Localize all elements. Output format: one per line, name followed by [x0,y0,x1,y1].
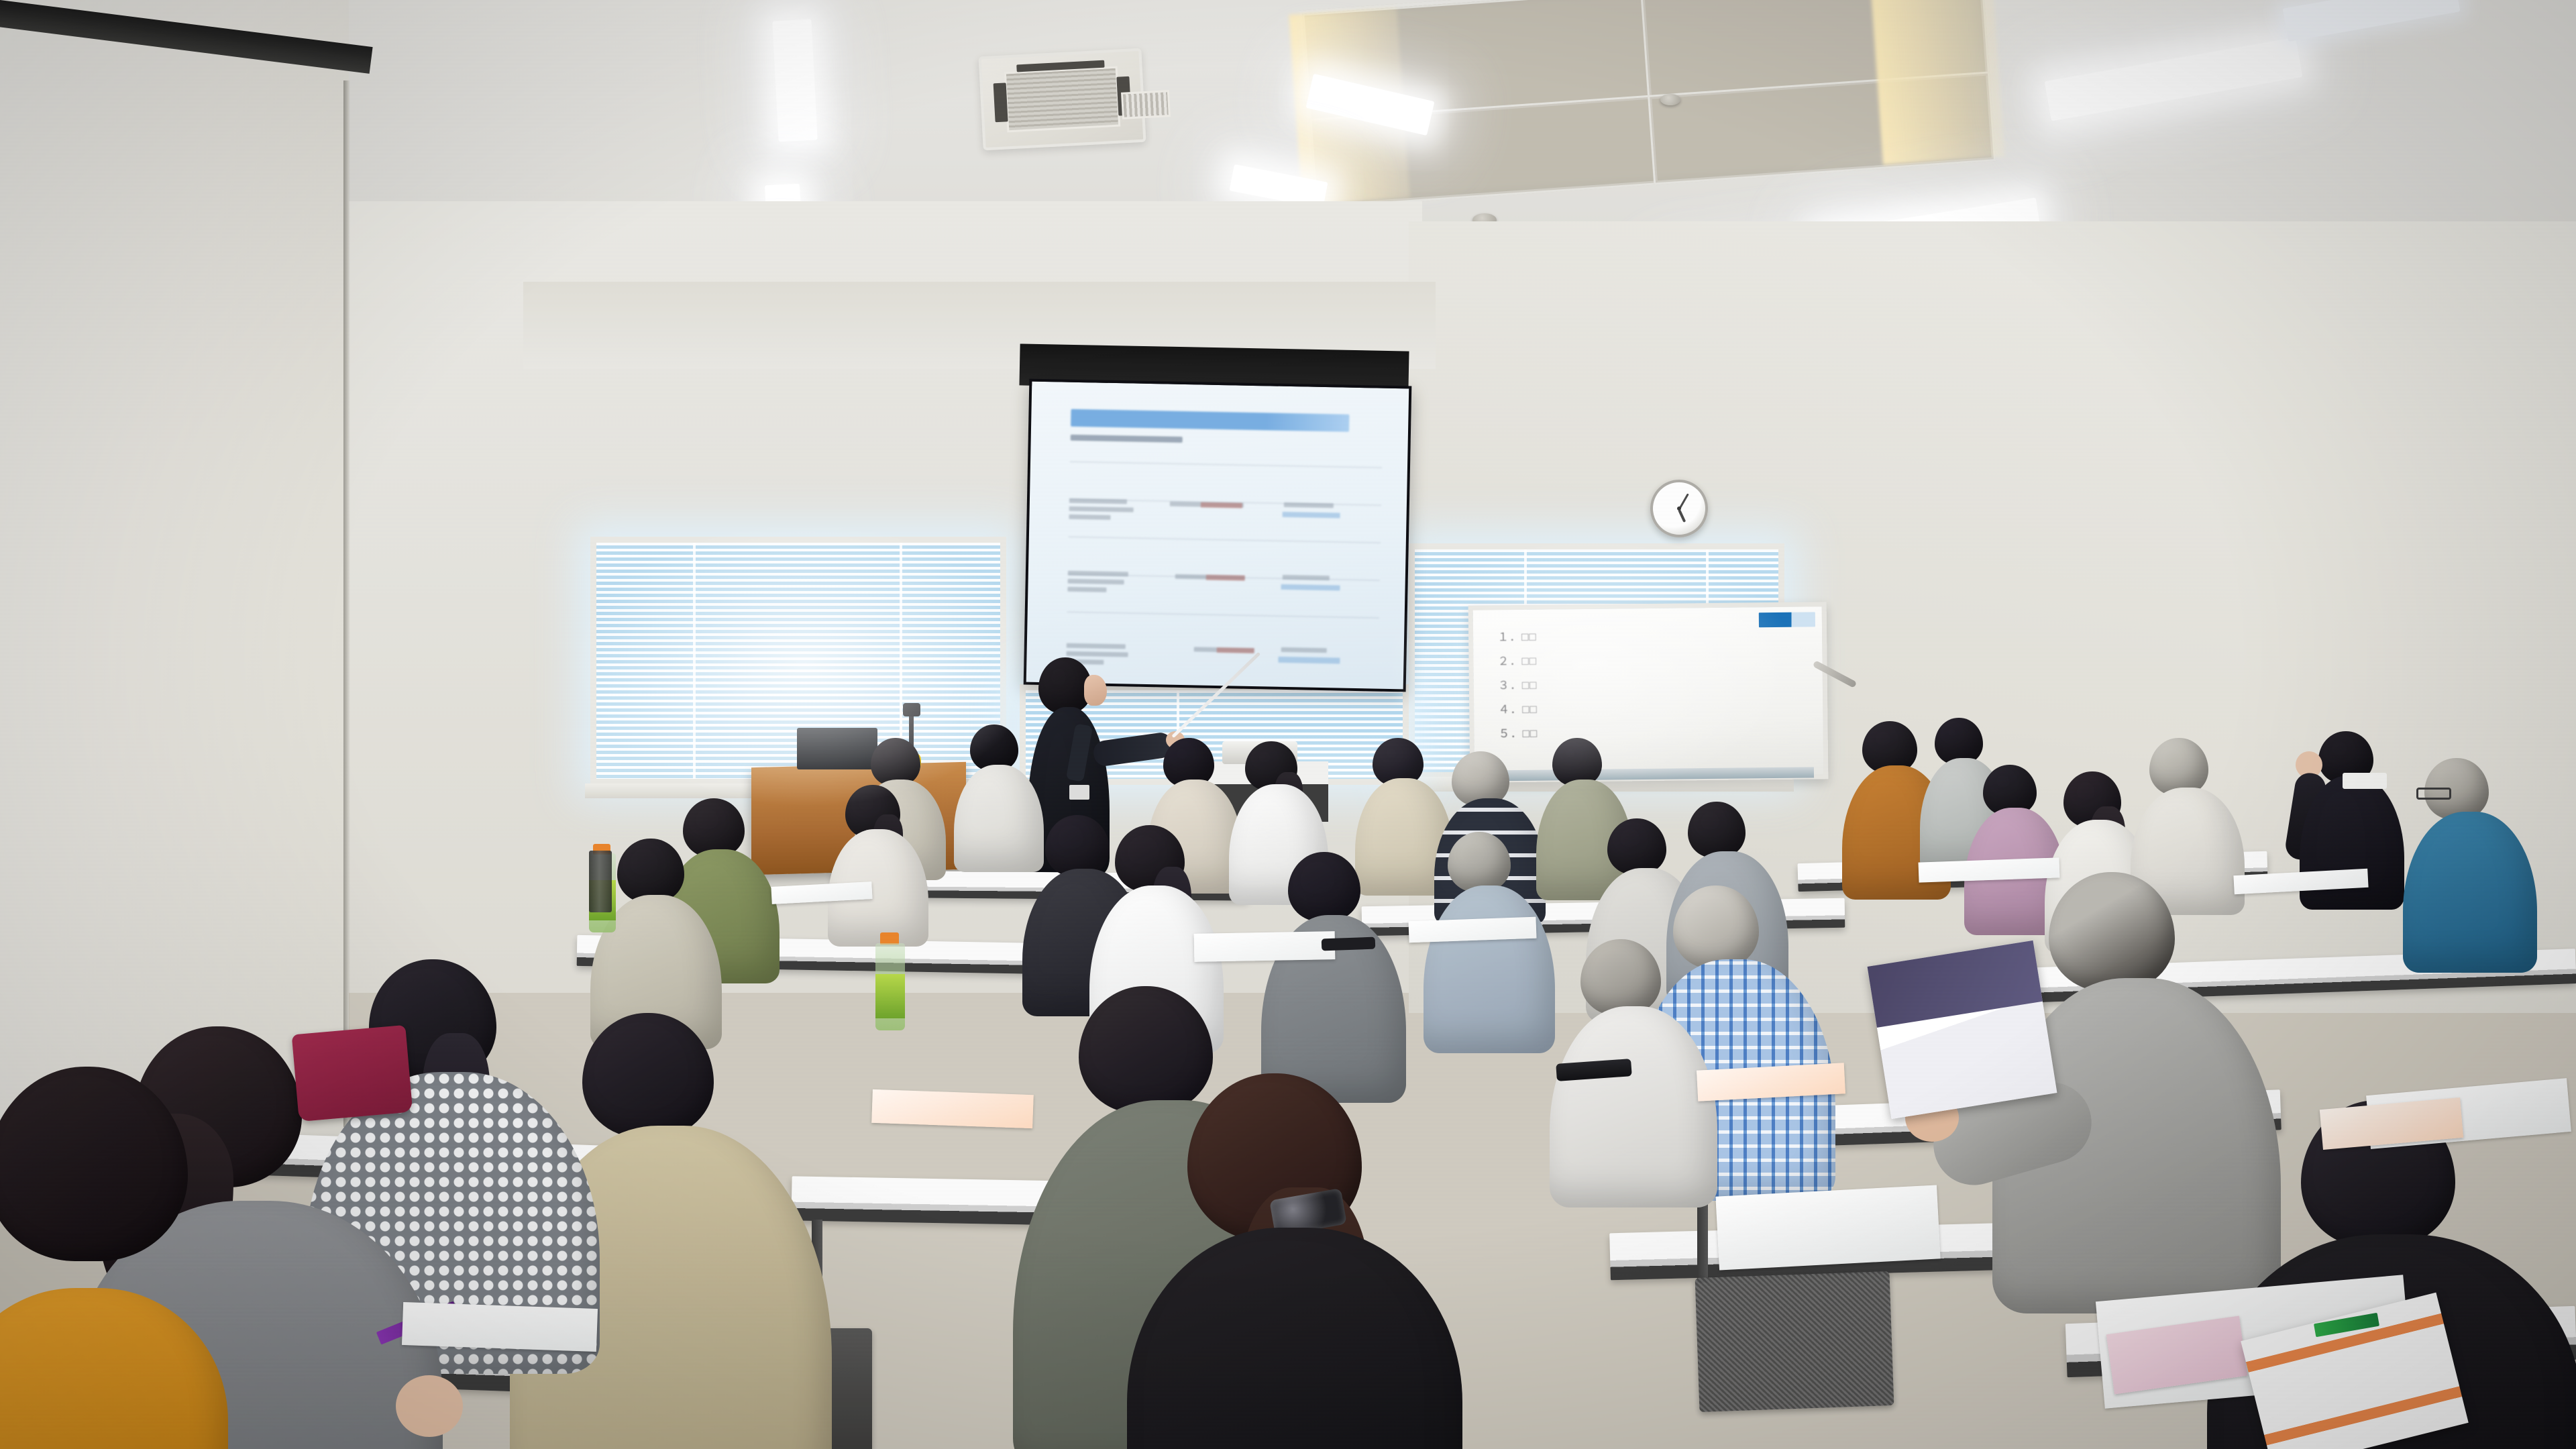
clock-center-pin [1677,506,1681,511]
handbag [292,1025,413,1122]
slide-title-bar [1071,409,1349,432]
whiteboard[interactable]: １．□□ ２．□□ ３．□□ ４．□□ ５．□□ [1468,602,1829,783]
ceiling-light-panel [772,19,817,142]
eyeglasses [1322,937,1376,951]
collar [2343,773,2387,789]
left-partition-wall [0,0,349,1140]
presenter-name-badge [1069,785,1089,800]
eyeglasses-icon [2416,788,2451,800]
whiteboard-magnet-label [1759,612,1815,627]
air-conditioner-vent-plate [1121,90,1171,119]
notebook[interactable] [402,1302,598,1352]
slide-table-row [1067,568,1383,609]
whiteboard-line: ２．□□ [1497,651,1537,669]
whiteboard-line: １．□□ [1497,627,1537,645]
slide-subheading [1071,435,1183,443]
wall-corner-shadow [343,80,350,1127]
projected-slide [1050,409,1393,641]
chair [1695,1271,1894,1412]
notebook[interactable] [1715,1185,1940,1270]
slide-table-row [1066,641,1382,682]
seminar-room-photo: １．□□ ２．□□ ３．□□ ４．□□ ５．□□ [0,0,2576,1449]
whiteboard-line: ５．□□ [1498,724,1538,741]
whiteboard-line: ４．□□ [1498,700,1538,717]
clock-hour-hand [1678,509,1686,523]
sprinkler-head [1660,94,1680,105]
printed-handout[interactable] [1408,917,1536,943]
wall-clock [1650,480,1708,537]
notebook[interactable] [1194,931,1336,962]
hand [396,1375,463,1437]
microphone-head [903,703,920,716]
printed-handout[interactable] [871,1089,1034,1128]
coffee-can [589,851,612,912]
presenter-face [1084,675,1107,706]
bottle-label [875,974,905,1018]
printed-handout[interactable] [1868,941,2057,1119]
whiteboard-line: ３．□□ [1498,676,1538,693]
laptop[interactable] [797,728,877,769]
projection-screen[interactable] [1024,379,1412,692]
